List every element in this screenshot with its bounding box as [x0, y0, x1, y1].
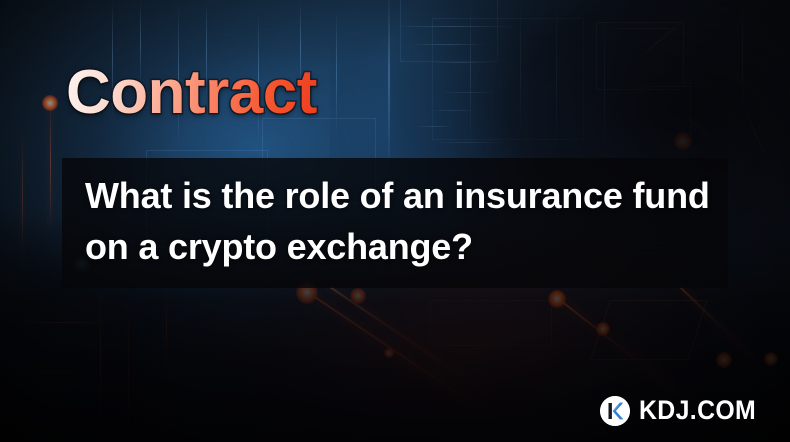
category-title: Contract: [66, 62, 317, 124]
promo-card: Contract Contract What is the role of an…: [0, 0, 790, 442]
brand-name: KDJ.COM: [639, 395, 756, 426]
kdj-k-logo-icon: [600, 396, 630, 426]
accent-bar: [85, 323, 167, 340]
headline-text: What is the role of an insurance fund on…: [85, 170, 715, 272]
brand-logo[interactable]: KDJ.COM: [600, 395, 766, 426]
